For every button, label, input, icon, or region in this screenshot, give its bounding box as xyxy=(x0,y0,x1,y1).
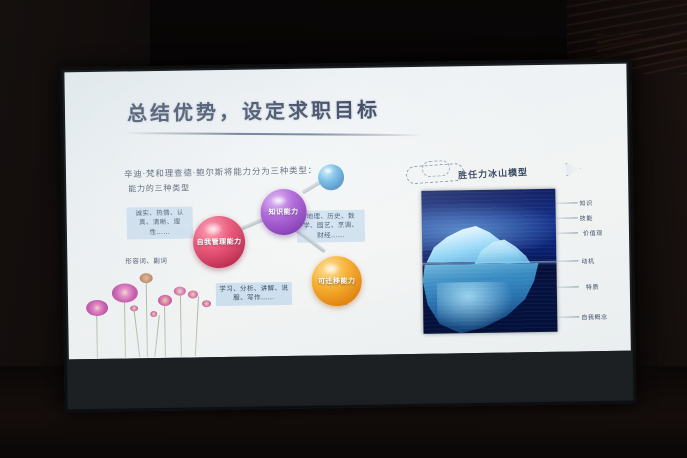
sphere-transferable-label: 可迁移能力 xyxy=(318,277,356,286)
slide-title: 总结优势，设定求职目标 xyxy=(127,93,380,126)
iceberg-leader-line-4 xyxy=(556,260,578,261)
projector-scanline-overlay xyxy=(421,189,557,334)
iceberg-label-self-concept: 自我概念 xyxy=(581,312,608,321)
iceberg-leader-line-6 xyxy=(557,316,579,317)
sphere-knowledge-label: 知识能力 xyxy=(269,207,299,216)
callout-cloud-icon-2 xyxy=(421,160,450,178)
label-adjective-adverb: 形容词、副词 xyxy=(125,255,167,266)
iceberg-label-skill: 技能 xyxy=(580,213,593,222)
lecture-room-scene: 总结优势，设定求职目标 辛迪·梵和理查德·鲍尔斯将能力分为三种类型： 能力的三种… xyxy=(0,0,687,458)
iceberg-leader-line-2 xyxy=(556,217,578,218)
sphere-transferable: 可迁移能力 xyxy=(311,256,362,307)
presentation-slide: 总结优势，设定求职目标 辛迪·梵和理查德·鲍尔斯将能力分为三种类型： 能力的三种… xyxy=(64,64,630,360)
intro-line-1: 辛迪·梵和理查德·鲍尔斯将能力分为三种类型： xyxy=(124,164,317,180)
screen-lower-dark-area xyxy=(69,351,632,408)
iceberg-leader-line-5 xyxy=(557,286,579,287)
iceberg-leader-line-1 xyxy=(556,202,578,203)
info-box-adjectives: 诚实、热情、认真、清晰、理性…… xyxy=(127,206,193,239)
title-divider-rule xyxy=(123,132,423,136)
iceberg-label-motive: 动机 xyxy=(581,256,594,265)
iceberg-leader-line-3 xyxy=(556,232,578,233)
intro-line-2: 能力的三种类型 xyxy=(128,182,190,194)
sphere-self-management-label: 自我管理能力 xyxy=(197,237,242,246)
iceberg-photo xyxy=(421,189,557,334)
projection-screen-frame: 总结优势，设定求职目标 辛迪·梵和理查德·鲍尔斯将能力分为三种类型： 能力的三种… xyxy=(59,59,636,413)
cosmos-flowers-decoration xyxy=(83,266,234,360)
iceberg-label-knowledge: 知识 xyxy=(579,198,592,207)
callout-arrow-icon xyxy=(565,162,581,176)
sphere-self-management: 自我管理能力 xyxy=(193,216,246,269)
iceberg-label-values: 价值观 xyxy=(583,228,603,237)
iceberg-label-trait: 特质 xyxy=(586,282,599,291)
competency-model-heading: 胜任力冰山模型 xyxy=(458,165,529,182)
sphere-accent-blue xyxy=(318,164,344,190)
